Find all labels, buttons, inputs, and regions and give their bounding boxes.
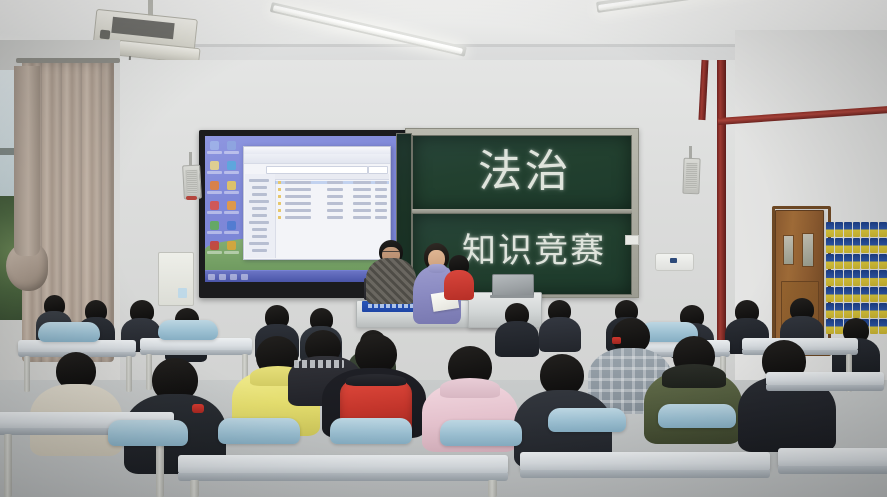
file-row[interactable] <box>275 188 389 191</box>
projection-screen-display[interactable] <box>205 136 405 282</box>
student-back-8-torso <box>495 321 539 357</box>
desk-leg-m3 <box>146 354 152 390</box>
student-red-vest-collar <box>346 374 406 386</box>
nav-item[interactable] <box>252 235 267 238</box>
podium-laptop-hinge <box>490 295 534 298</box>
chair-front-2 <box>218 418 300 444</box>
control-box-label <box>178 288 187 298</box>
taskbar-item-2[interactable] <box>230 274 237 280</box>
honor-board-card <box>835 319 843 334</box>
chair-front-1 <box>108 420 188 446</box>
student-olive-jacket-hood <box>662 364 726 388</box>
honor-board-card <box>835 222 843 237</box>
honor-board-card <box>879 303 887 318</box>
file-icon <box>278 216 281 219</box>
honor-board-card <box>844 254 852 269</box>
honor-board-card <box>826 303 834 318</box>
honor-board-card <box>826 238 834 253</box>
desktop-icon-label <box>224 191 239 194</box>
taskbar-item-1[interactable] <box>219 274 226 280</box>
file-cell <box>353 216 371 219</box>
file-icon <box>278 202 281 205</box>
desktop-icon-label <box>207 191 222 194</box>
file-row[interactable] <box>275 209 389 212</box>
file-cell <box>285 202 311 205</box>
navigation-pane[interactable] <box>245 174 276 258</box>
classroom-photo: 法治 知识竞赛 <box>0 0 887 497</box>
honor-board-card <box>826 270 834 285</box>
honor-board-card <box>870 319 878 334</box>
file-cell <box>375 216 387 219</box>
desk-front-4 <box>778 448 887 467</box>
file-row[interactable] <box>275 202 389 205</box>
file-row[interactable] <box>275 195 389 198</box>
vertical-pipe <box>717 60 726 340</box>
honor-board-card <box>861 287 869 302</box>
file-icon <box>278 209 281 212</box>
honor-board-card <box>879 270 887 285</box>
taskbar-start-button[interactable] <box>208 274 215 280</box>
nav-item[interactable] <box>249 221 269 224</box>
male-presenter-torso <box>366 258 416 304</box>
file-cell <box>327 181 343 184</box>
desktop-icon-label <box>224 171 239 174</box>
blackboard-text-top: 法治 <box>478 148 571 196</box>
control-panel-display <box>670 258 677 263</box>
desk-mid-2-edge <box>140 350 252 355</box>
honor-board-card <box>835 254 843 269</box>
honor-board-card <box>826 287 834 302</box>
file-cell <box>285 195 311 198</box>
file-cell <box>375 202 387 205</box>
honor-board-card <box>826 254 834 269</box>
desktop-icon-label <box>224 231 239 234</box>
desk-leg-f4 <box>488 480 497 497</box>
honor-board-card <box>870 270 878 285</box>
honor-board-card <box>844 303 852 318</box>
desktop-icon-computer[interactable] <box>227 141 236 150</box>
desk-front-3 <box>520 452 770 471</box>
desk-front-2 <box>178 455 508 474</box>
honor-board-card <box>835 287 843 302</box>
file-row[interactable] <box>275 181 389 184</box>
nav-item[interactable] <box>249 242 269 245</box>
file-cell <box>327 216 343 219</box>
speaker-grill-right <box>685 163 697 189</box>
desktop-icon-archive-tool[interactable] <box>227 241 236 250</box>
honor-board-card <box>835 238 843 253</box>
nav-item[interactable] <box>252 207 267 210</box>
desk-right-1 <box>766 372 884 386</box>
female-presenter-collar <box>428 264 446 273</box>
file-cell <box>327 202 343 205</box>
honor-board-card <box>879 319 887 334</box>
file-cell <box>375 195 387 198</box>
curtain-side-fold <box>14 66 40 256</box>
desktop-icon-label <box>224 251 239 254</box>
honor-board-card <box>844 270 852 285</box>
honor-board-card <box>870 238 878 253</box>
chair-front-4 <box>440 420 522 446</box>
file-explorer-window[interactable] <box>243 146 391 260</box>
window-ribbon[interactable] <box>244 154 390 164</box>
chair-mid-1 <box>38 322 100 342</box>
desktop-icon-app-orange[interactable] <box>227 201 236 210</box>
honor-board-card <box>879 222 887 237</box>
search-box[interactable] <box>368 166 388 174</box>
honor-board-card <box>835 303 843 318</box>
presenter-desk-sign-text <box>368 304 416 308</box>
desktop-icon-media-player[interactable] <box>210 181 219 190</box>
honor-board-card <box>853 222 861 237</box>
nav-item[interactable] <box>252 228 267 231</box>
desktop-icon-label <box>207 151 222 154</box>
file-icon <box>278 195 281 198</box>
honor-board-card <box>844 222 852 237</box>
file-cell <box>353 195 371 198</box>
honor-board-card <box>870 222 878 237</box>
file-cell <box>285 216 311 219</box>
honor-board-card <box>853 254 861 269</box>
honor-board-card <box>879 238 887 253</box>
file-cell <box>327 209 343 212</box>
file-cell <box>375 188 387 191</box>
desk-front-2-edge <box>178 473 508 481</box>
honor-board-card <box>826 222 834 237</box>
wall-speaker-right <box>682 158 700 195</box>
student-german-jacket-text <box>294 360 344 368</box>
chair-front-5 <box>548 408 626 432</box>
desk-right-1-edge <box>766 385 884 391</box>
chair-front-3 <box>330 418 412 444</box>
curtain-rod <box>16 58 120 63</box>
desktop-icon-label <box>224 151 239 154</box>
honor-board-card <box>861 238 869 253</box>
desktop-icon-pdf-reader[interactable] <box>210 241 219 250</box>
honor-board-card <box>853 238 861 253</box>
desktop-icon-app-green[interactable] <box>210 221 219 230</box>
nav-item[interactable] <box>252 249 267 252</box>
nav-item[interactable] <box>252 214 267 217</box>
speaker-bracket-right <box>689 146 692 159</box>
honor-board-card <box>870 254 878 269</box>
honor-board-card <box>835 270 843 285</box>
file-icon <box>278 188 281 191</box>
nav-item[interactable] <box>252 186 267 189</box>
file-cell <box>285 209 311 212</box>
honor-board-card <box>861 254 869 269</box>
desk-leg-f1 <box>4 434 12 497</box>
file-cell <box>327 195 343 198</box>
red-object-on-desk-2 <box>612 337 621 344</box>
desktop-icon-recycle-bin[interactable] <box>210 141 219 150</box>
address-bar[interactable] <box>266 166 368 174</box>
honor-board-card <box>861 270 869 285</box>
file-cell <box>375 209 387 212</box>
column-headers[interactable] <box>275 174 389 180</box>
honor-board-card <box>870 287 878 302</box>
file-cell <box>285 181 311 184</box>
file-icon <box>278 181 281 184</box>
file-cell <box>353 209 371 212</box>
desk-front-4-edge <box>778 466 887 474</box>
speaker-grill-left <box>185 170 198 195</box>
desktop-icon-label <box>207 251 222 254</box>
blackboard-text-bottom: 知识竞赛 <box>462 232 606 270</box>
desktop-icon-label <box>224 211 239 214</box>
honor-board-card <box>861 303 869 318</box>
student-pink-hoodie-hood <box>440 378 500 398</box>
wall-speaker-left <box>182 165 202 200</box>
red-object-on-desk <box>192 404 204 413</box>
wall-outlet-panel[interactable] <box>625 235 639 245</box>
honor-board-card <box>853 303 861 318</box>
electrical-control-box <box>158 252 194 306</box>
desk-leg-m1 <box>24 356 30 392</box>
desktop-icon-browser[interactable] <box>227 161 236 170</box>
honor-board-card <box>853 270 861 285</box>
desktop-icon-label <box>207 231 222 234</box>
honor-board-card <box>870 303 878 318</box>
honor-board-card <box>826 319 834 334</box>
desk-front-3-edge <box>520 470 770 478</box>
honor-board-card <box>844 238 852 253</box>
male-presenter-glasses <box>382 251 400 256</box>
desktop-icon-documents-folder[interactable] <box>210 161 219 170</box>
speaker-bracket-left <box>189 152 192 166</box>
speaker-wire-left <box>186 196 197 200</box>
desktop-icon-app-red[interactable] <box>210 201 219 210</box>
chair-mid-2 <box>158 320 218 340</box>
student-back-9-torso <box>539 317 581 352</box>
honor-board-card <box>879 254 887 269</box>
projector-lens <box>100 30 111 40</box>
student-near-podium-torso <box>444 270 474 300</box>
honor-board-card <box>844 287 852 302</box>
file-cell <box>327 188 343 191</box>
nav-item[interactable] <box>249 200 269 203</box>
nav-item[interactable] <box>252 193 267 196</box>
taskbar-item-3[interactable] <box>241 274 248 280</box>
honor-board-card <box>853 287 861 302</box>
desktop-icon-app-blue[interactable] <box>227 221 236 230</box>
chair-front-6 <box>658 404 736 428</box>
file-cell <box>353 202 371 205</box>
file-row[interactable] <box>275 216 389 219</box>
honor-board-card <box>861 222 869 237</box>
desktop-icon-label <box>207 171 222 174</box>
file-cell <box>353 181 371 184</box>
desk-leg-f3 <box>190 480 199 497</box>
desk-leg-m2 <box>126 356 132 392</box>
desktop-icon-folder-yellow[interactable] <box>227 181 236 190</box>
file-cell <box>375 181 387 184</box>
file-cell <box>353 188 371 191</box>
file-cell <box>285 188 311 191</box>
desktop-icon-label <box>207 211 222 214</box>
honor-board-card <box>879 287 887 302</box>
nav-item[interactable] <box>249 179 269 182</box>
